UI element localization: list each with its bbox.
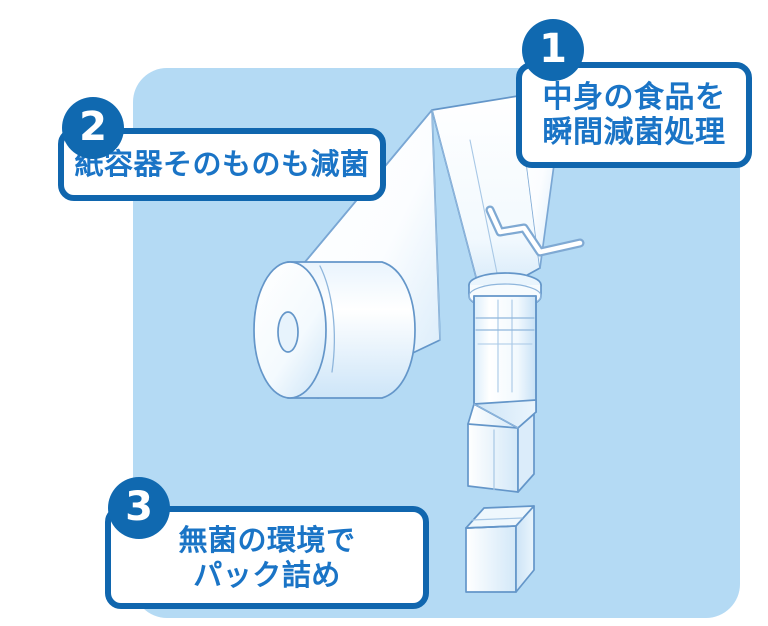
step-badge-2-number: 2 (79, 107, 107, 147)
step-badge-2: 2 (62, 97, 124, 159)
callout-step-1-text: 中身の食品を 瞬間減菌処理 (543, 80, 726, 151)
step-badge-3: 3 (108, 477, 170, 539)
step-badge-1-number: 1 (539, 29, 567, 69)
figure-stage: 中身の食品を 瞬間減菌処理 1 紙容器そのものも減菌 2 無菌の環境で パック詰… (0, 0, 768, 626)
step-badge-3-number: 3 (125, 487, 153, 527)
callout-step-3-text: 無菌の環境で パック詰め (178, 523, 355, 591)
callout-step-2-text: 紙容器そのものも減菌 (74, 147, 369, 181)
step-badge-1: 1 (522, 19, 584, 81)
